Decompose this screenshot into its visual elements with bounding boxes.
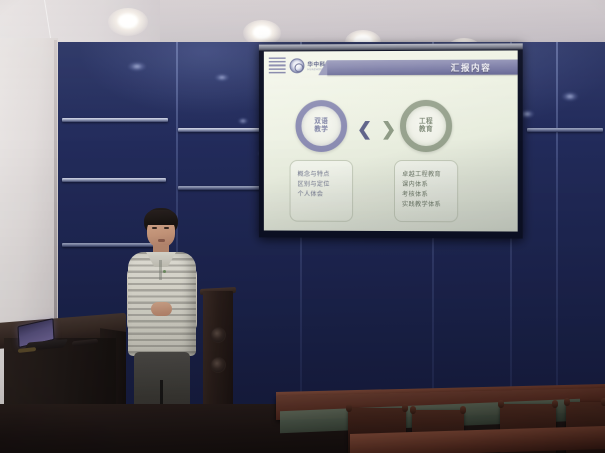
- node-right-label: 工程 教育: [419, 117, 433, 134]
- right-topic-item-2: 课内体系: [402, 180, 457, 190]
- presenter-hands: [151, 302, 172, 316]
- pillar-edge: [54, 40, 57, 340]
- speaker-driver-lower: [210, 357, 226, 373]
- node-right-line2: 教育: [419, 126, 433, 133]
- slide-body: 双语 教学 ❮ ❯ 工程 教育 概念与特点区别与定位个人体会 卓越工程教育课内体…: [264, 78, 518, 232]
- university-seal-icon: [290, 58, 305, 73]
- left-topic-box: 概念与特点区别与定位个人体会: [290, 160, 354, 222]
- wall-trim-6: [527, 128, 603, 132]
- floor-speaker: [203, 291, 233, 413]
- wall-reflection-6: [238, 118, 248, 124]
- chevron-right-icon: ❯: [381, 120, 396, 138]
- node-left-line2: 教学: [314, 126, 328, 133]
- wall-trim-2: [62, 178, 166, 182]
- presenter-eye-right: [164, 227, 169, 229]
- speaker-driver-upper: [210, 327, 226, 343]
- left-topic-item-2: 区别与定位: [297, 180, 352, 190]
- wall-seam-5: [556, 42, 558, 422]
- wall-trim-1: [62, 118, 168, 122]
- node-left-label: 双语 教学: [314, 118, 328, 135]
- right-topic-item-3: 考核体系: [402, 190, 457, 200]
- slide-content: 华中科技大学 HUAZHONG UNIVERSITY OF SCIENCE AN…: [264, 50, 518, 231]
- chair-1-knob-right: [402, 404, 408, 412]
- right-topic-box: 卓越工程教育课内体系考核体系实践教学体系: [394, 160, 458, 222]
- slide-header: 华中科技大学 HUAZHONG UNIVERSITY OF SCIENCE AN…: [264, 50, 518, 78]
- downlight-1-icon: [108, 8, 148, 36]
- chair-3-knob-left: [498, 400, 504, 408]
- node-right-line1: 工程: [419, 117, 433, 124]
- projection-screen: 华中科技大学 HUAZHONG UNIVERSITY OF SCIENCE AN…: [259, 43, 523, 238]
- photo-scene: 华中科技大学 HUAZHONG UNIVERSITY OF SCIENCE AN…: [0, 0, 605, 453]
- wall-reflection-1: [128, 62, 146, 71]
- presenter-mouth: [158, 239, 165, 242]
- wall-reflection-2: [215, 74, 229, 81]
- chair-4-knob-right: [601, 398, 605, 406]
- node-bilingual-teaching: 双语 教学: [296, 100, 348, 152]
- node-left-line1: 双语: [314, 118, 328, 125]
- presenter-fringe: [144, 210, 178, 225]
- wall-reflection-5: [562, 92, 578, 101]
- presenter-eye-left: [152, 227, 157, 229]
- left-topic-item-1: 概念与特点: [297, 170, 352, 180]
- chair-1-knob-left: [346, 404, 352, 412]
- chair-4-knob-left: [564, 398, 570, 406]
- chevron-left-icon: ❮: [357, 120, 372, 138]
- presenter-button: [163, 270, 166, 273]
- screen-top-bar: [259, 43, 523, 50]
- node-engineering-education: 工程 教育: [400, 100, 452, 152]
- presenter-placket: [159, 260, 162, 280]
- chair-3-knob-right: [552, 400, 558, 408]
- chair-2-knob-right: [460, 406, 466, 414]
- slide-title: 汇报内容: [451, 62, 492, 74]
- header-stripes-icon: [269, 57, 286, 73]
- right-topic-item-1: 卓越工程教育: [402, 170, 457, 180]
- chair-2-knob-left: [410, 406, 416, 414]
- left-topic-item-3: 个人体会: [297, 190, 352, 200]
- right-topic-item-4: 实践教学体系: [402, 200, 457, 210]
